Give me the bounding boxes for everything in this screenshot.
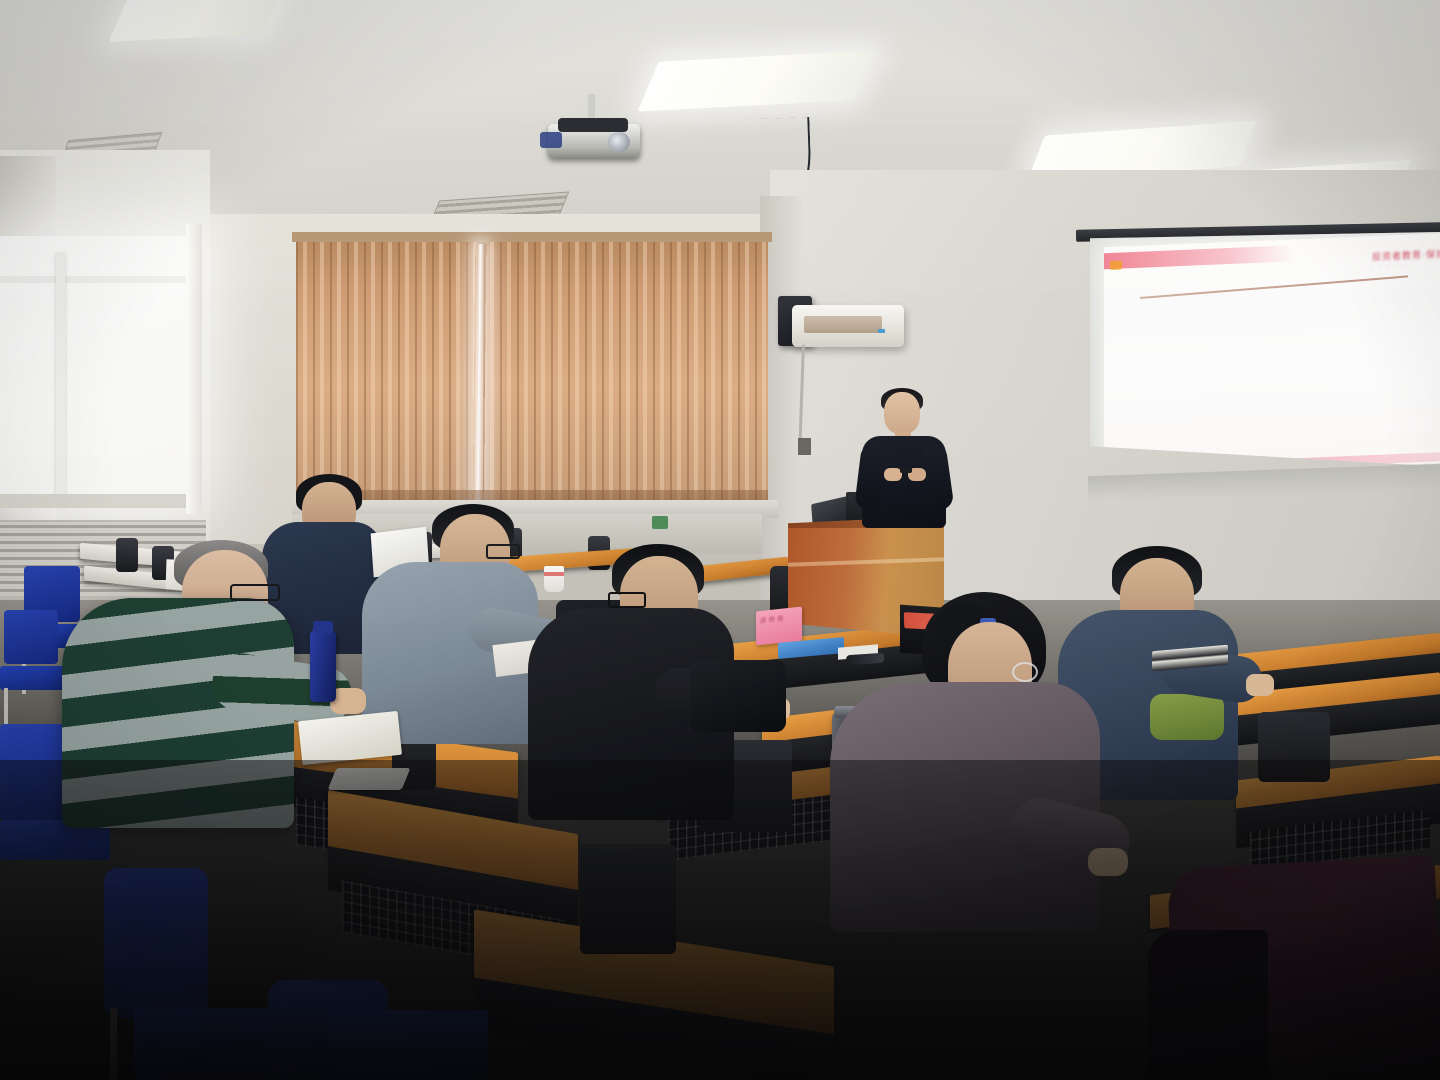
projection-screen: 投资者教育·保护 · · · · · · bbox=[1090, 232, 1440, 484]
classroom-photo: 投资者教育·保护 · · · · · · bbox=[0, 0, 1440, 1080]
projector-lens-icon bbox=[608, 132, 630, 152]
slide-divider bbox=[1140, 275, 1408, 299]
attendee-glasses-icon bbox=[608, 592, 646, 608]
attendee-glasses-icon bbox=[230, 584, 280, 601]
green-object-on-counter bbox=[652, 516, 668, 529]
chair-seat bbox=[0, 666, 70, 690]
attendee-glasses-icon bbox=[486, 544, 520, 559]
presenter bbox=[862, 392, 954, 532]
chair-back bbox=[4, 610, 58, 664]
podium-trim bbox=[788, 557, 944, 566]
ac-led-icon bbox=[878, 329, 885, 333]
air-conditioner-icon bbox=[792, 305, 904, 347]
wall-outlet-box bbox=[798, 438, 811, 455]
ceiling-light-front-left-icon bbox=[109, 0, 282, 42]
floor-shadow bbox=[0, 760, 1440, 1080]
slide-subtitle: · · · · · · bbox=[1362, 263, 1408, 272]
window-frame-vertical bbox=[56, 254, 65, 506]
window-left bbox=[0, 236, 196, 506]
window-frame-horizontal bbox=[0, 276, 196, 283]
window-left-edge bbox=[186, 224, 202, 514]
projector-icon bbox=[548, 118, 644, 162]
bottle-cap bbox=[313, 621, 333, 633]
name-card-text: 讲 师 席 bbox=[760, 615, 784, 626]
ac-grille bbox=[804, 316, 882, 333]
blue-water-bottle bbox=[310, 630, 336, 702]
slide-header-band bbox=[1104, 245, 1294, 269]
slide: 投资者教育·保护 · · · · · · bbox=[1104, 233, 1440, 478]
slide-header-mark bbox=[1110, 261, 1122, 271]
curtain-light-gap bbox=[473, 244, 487, 506]
pink-name-card: 讲 师 席 bbox=[756, 607, 802, 646]
attendee-hand bbox=[1246, 674, 1274, 696]
bag-dark-front bbox=[690, 660, 786, 732]
presentation-clicker-icon bbox=[900, 466, 912, 473]
projector-connector bbox=[540, 132, 562, 148]
projector-cables bbox=[558, 118, 628, 132]
window-sill bbox=[0, 494, 196, 508]
slide-title: 投资者教育·保护 bbox=[1372, 247, 1440, 263]
attendee-glasses-icon bbox=[1012, 662, 1038, 682]
ceiling-light-center-icon bbox=[637, 50, 874, 111]
curtain-rod bbox=[292, 232, 772, 242]
curtain bbox=[296, 238, 768, 506]
